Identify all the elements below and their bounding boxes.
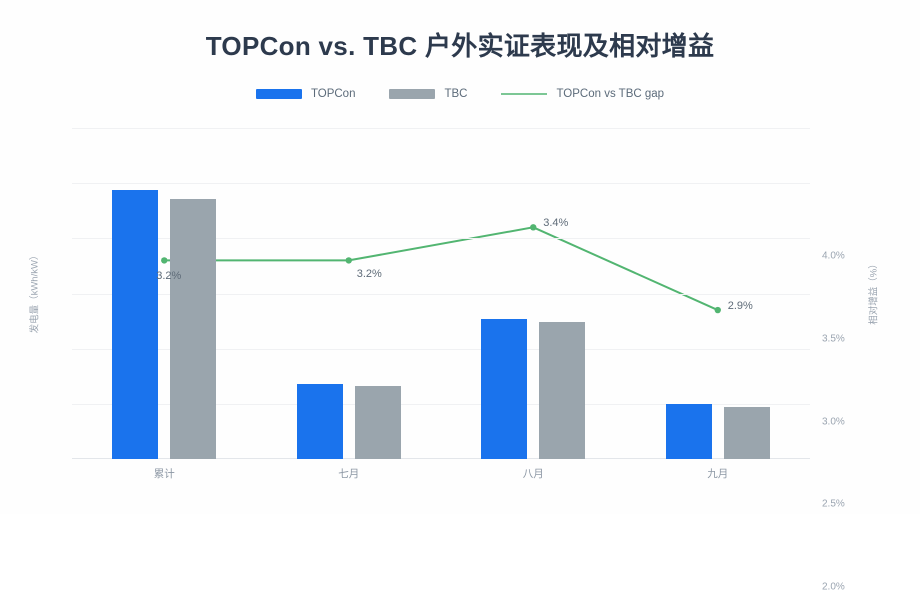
gap-line-path — [164, 227, 718, 310]
y-axis-right-tick-label: 4.0% — [822, 251, 845, 262]
y-axis-right-tick-label: 2.5% — [822, 499, 845, 510]
bar-topcon[interactable] — [297, 384, 343, 459]
bar-tbc[interactable] — [355, 386, 401, 459]
gridline — [72, 128, 810, 129]
x-axis-label: 七月 — [338, 466, 359, 481]
gap-line-point[interactable] — [346, 257, 352, 263]
chart-container: TOPCon vs. TBC 户外实证表现及相对增益 TOPCon TBC TO… — [0, 0, 920, 514]
legend-item-topcon[interactable]: TOPCon — [256, 88, 356, 100]
y-axis-right-tick-label: 2.0% — [822, 582, 845, 593]
bar-topcon[interactable] — [481, 319, 527, 459]
legend-label-gap: TOPCon vs TBC gap — [556, 88, 664, 100]
legend-swatch-topcon-icon — [256, 89, 302, 99]
legend-swatch-gap-line-icon — [501, 93, 547, 95]
chart-legend: TOPCon TBC TOPCon vs TBC gap — [0, 88, 920, 100]
legend-item-tbc[interactable]: TBC — [389, 88, 467, 100]
gridline — [72, 183, 810, 184]
gap-line-point[interactable] — [530, 224, 536, 230]
bar-tbc[interactable] — [724, 407, 770, 459]
y-axis-right-tick-label: 3.0% — [822, 416, 845, 427]
gap-point-label: 3.2% — [357, 268, 382, 280]
gap-line-point[interactable] — [715, 307, 721, 313]
y-axis-left-title: 发电量（kWh/kW） — [26, 251, 40, 334]
x-axis-label: 八月 — [523, 466, 544, 481]
y-axis-right-tick-label: 3.5% — [822, 333, 845, 344]
legend-label-tbc: TBC — [444, 88, 467, 100]
x-axis-label: 累计 — [154, 466, 175, 481]
bar-tbc[interactable] — [170, 199, 216, 459]
legend-item-gap[interactable]: TOPCon vs TBC gap — [501, 88, 664, 100]
bar-topcon[interactable] — [666, 404, 712, 459]
legend-swatch-tbc-icon — [389, 89, 435, 99]
x-axis-label: 九月 — [707, 466, 728, 481]
plot-area — [72, 128, 810, 459]
bar-tbc[interactable] — [539, 322, 585, 459]
chart-title: TOPCon vs. TBC 户外实证表现及相对增益 — [0, 26, 920, 63]
bar-topcon[interactable] — [112, 190, 158, 459]
gap-point-label: 3.2% — [156, 270, 181, 282]
gap-line-point[interactable] — [161, 257, 167, 263]
gap-point-label: 2.9% — [728, 300, 753, 312]
legend-label-topcon: TOPCon — [311, 88, 356, 100]
y-axis-right-title: 相对增益（%） — [866, 259, 880, 324]
gap-point-label: 3.4% — [543, 217, 568, 229]
